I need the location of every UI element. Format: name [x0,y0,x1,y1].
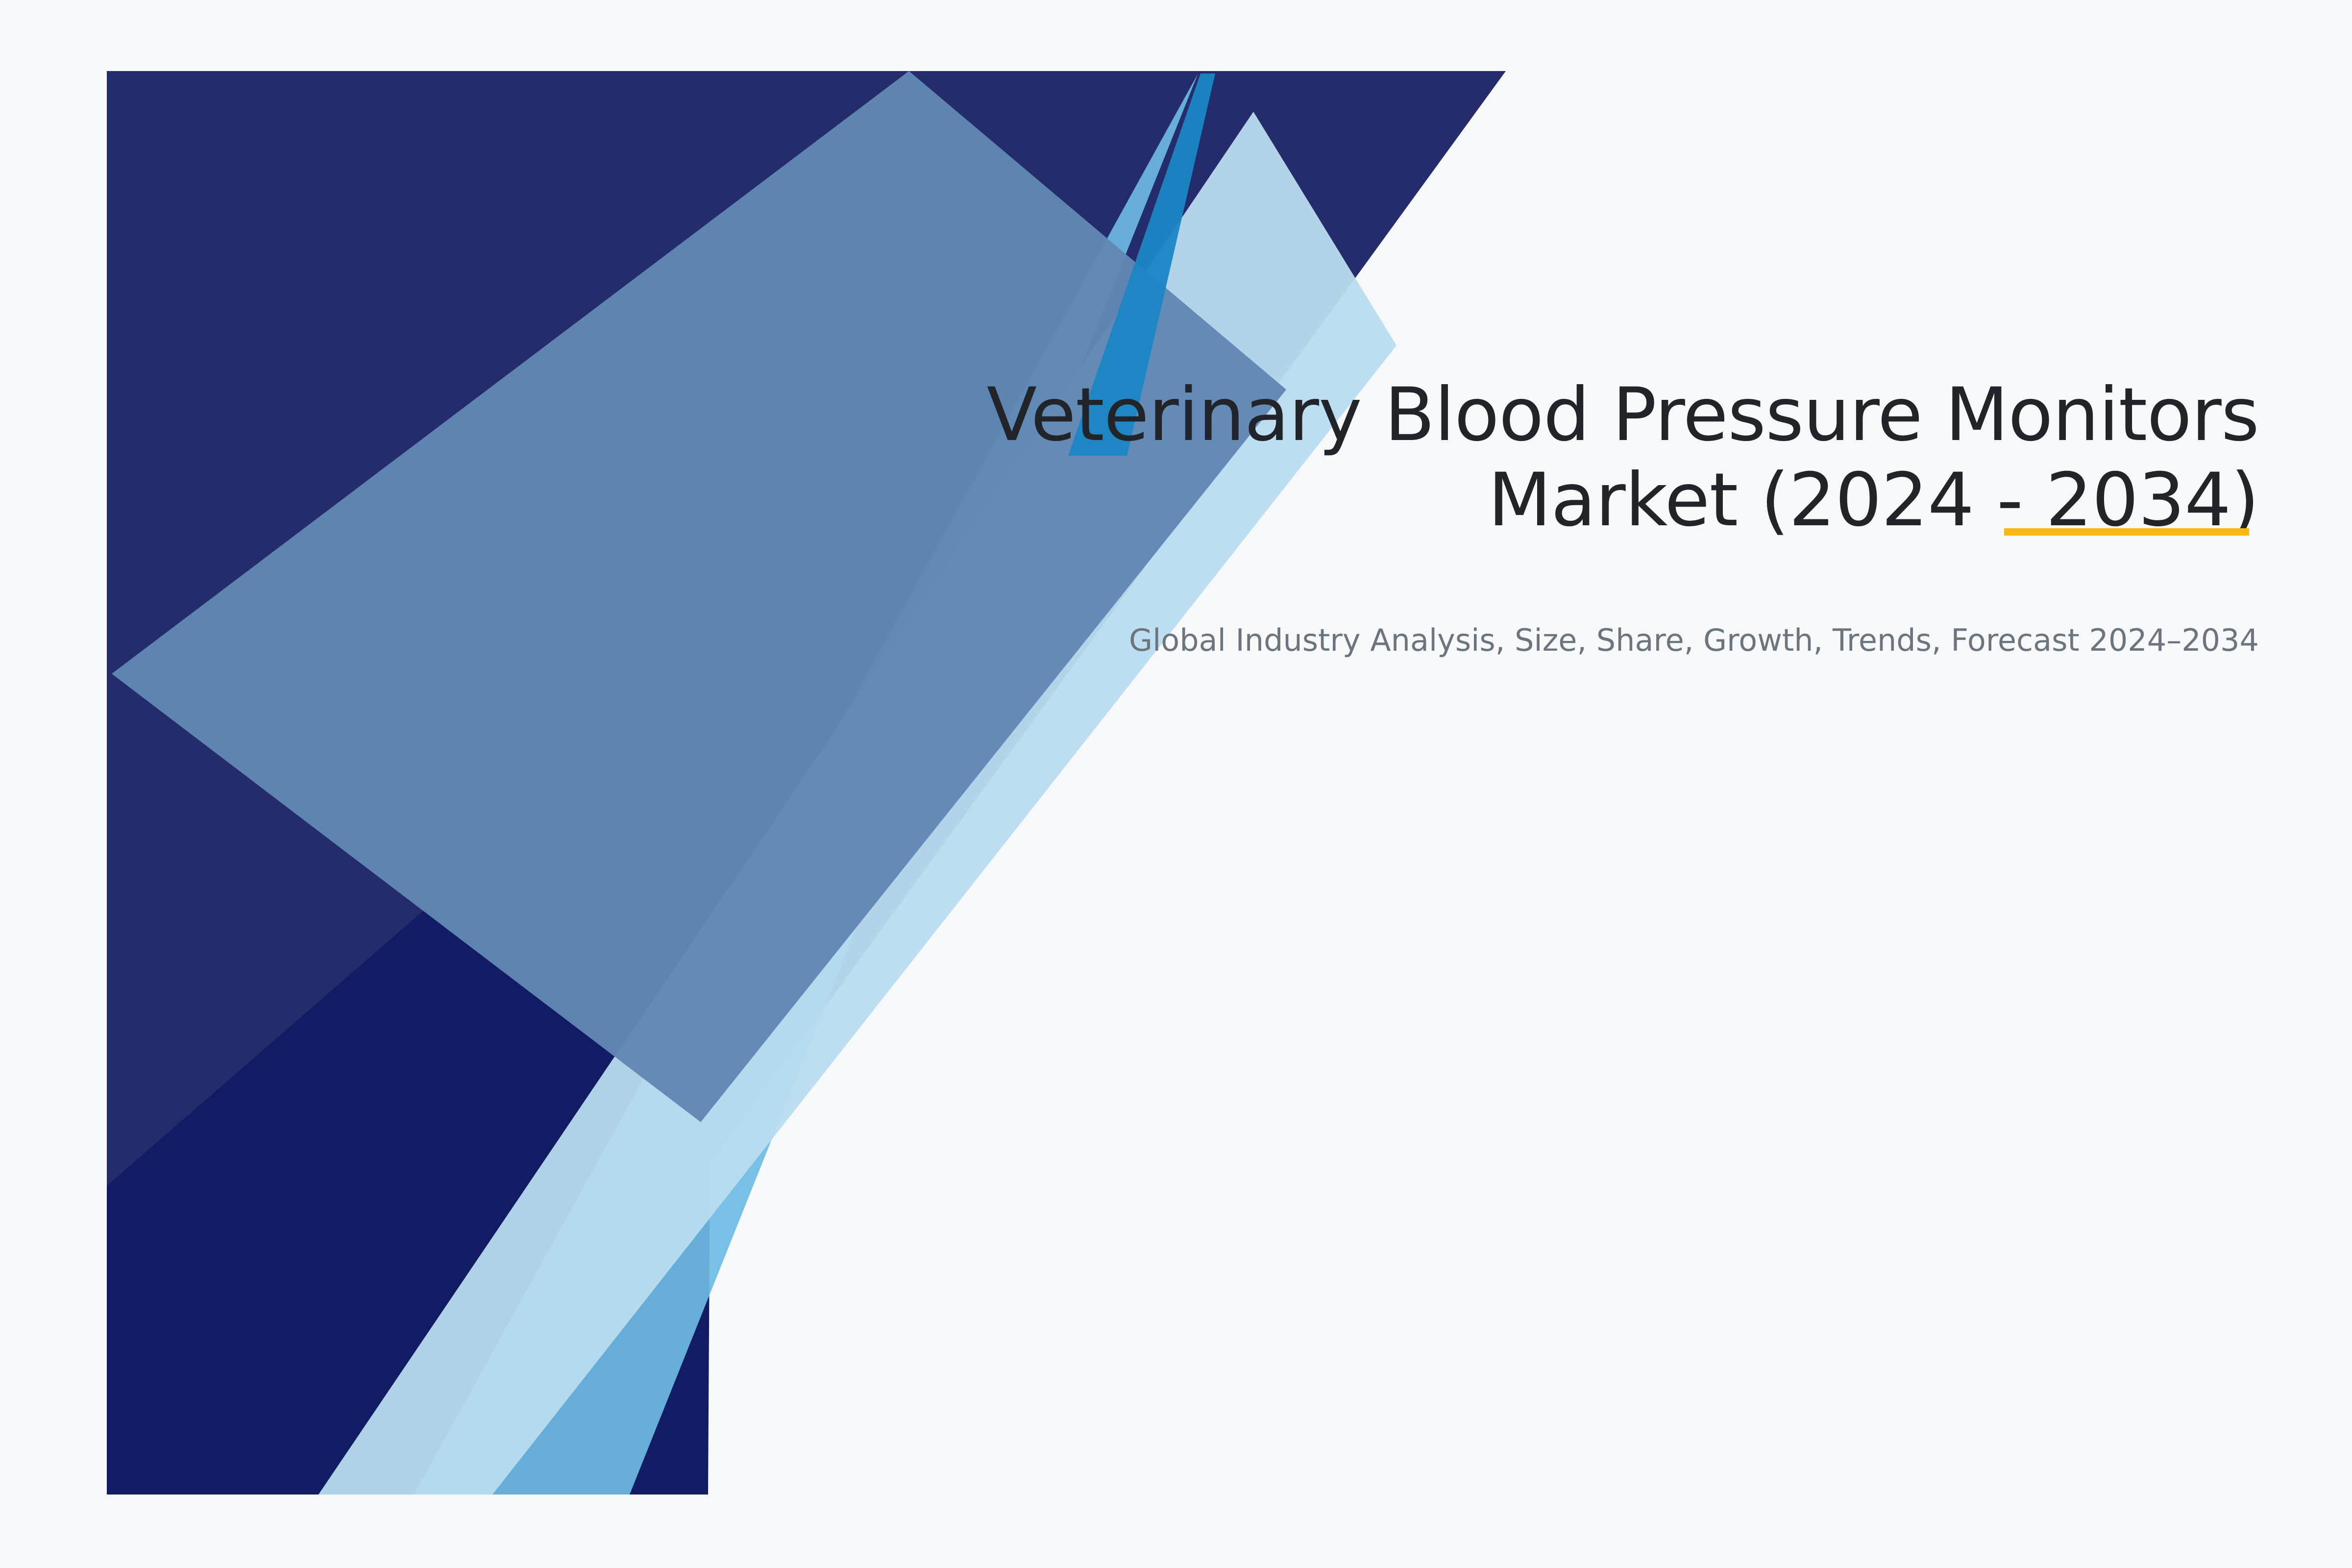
abstract-polygon-cover-graphic [0,0,2352,1568]
title-accent-underline [2004,528,2249,536]
report-cover-page: Veterinary Blood Pressure Monitors Marke… [0,0,2352,1568]
shape-pale-blue-sheet [318,112,1396,1494]
shape-navy-top-wedge [107,71,1506,1494]
cover-text-block: Veterinary Blood Pressure Monitors Marke… [892,372,2259,661]
shape-sky-blue-beam [414,73,1198,1494]
page-title: Veterinary Blood Pressure Monitors Marke… [892,372,2259,543]
page-subtitle: Global Industry Analysis, Size, Share, G… [892,543,2259,661]
shape-deep-navy-spike [107,659,713,1494]
